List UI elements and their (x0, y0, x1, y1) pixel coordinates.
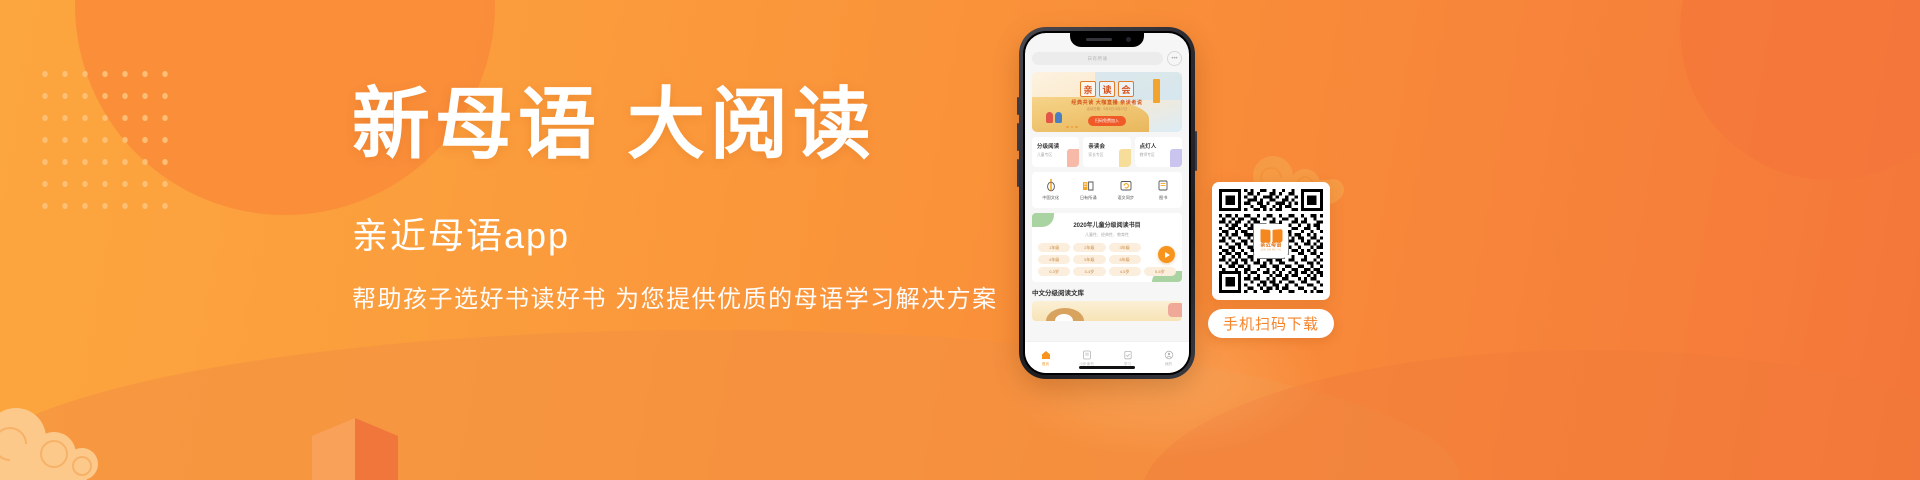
tab-label: 我的 (1165, 362, 1172, 367)
hero-title: 亲 读 会 (1080, 81, 1134, 97)
app-name: 亲近母语app (352, 216, 1012, 256)
grade-chip[interactable]: 1年级 (1038, 243, 1070, 252)
category-card-teacher[interactable]: 点灯人 教师专区 (1135, 137, 1182, 167)
hero-subtitle: 经典共读 大咖直播 亲读者说 (1071, 99, 1142, 106)
tab-reading[interactable]: 小步读书 (1066, 350, 1107, 367)
age-chip[interactable]: 4-5岁 (1109, 267, 1141, 276)
download-button[interactable]: 手机扫码下载 (1208, 309, 1334, 338)
book-icon (1157, 179, 1169, 192)
hero-char-2: 读 (1099, 81, 1115, 97)
grade-chip[interactable]: 3年级 (1109, 243, 1141, 252)
phone-mockup: 日有所诵 ••• 亲 读 会 (1019, 27, 1195, 379)
hero-illustration-kids (1046, 112, 1062, 123)
carousel-dots[interactable] (1066, 126, 1078, 129)
hero-banner-card[interactable]: 亲 读 会 经典共读 大咖直播 亲读者说 活动日期：9月6日-9月27日 扫码免… (1032, 72, 1182, 132)
quick-link-books[interactable]: 图书 (1145, 179, 1183, 201)
grade-chip[interactable]: 4年级 (1038, 255, 1070, 264)
age-chip[interactable]: 0-3岁 (1038, 267, 1070, 276)
phone-volume-down-button (1017, 159, 1019, 187)
card-decor-icon (1119, 149, 1131, 167)
home-indicator (1079, 366, 1135, 369)
phone-mute-switch (1017, 97, 1019, 115)
qr-code-block: 亲近母语 QIN JIN MU YU (1212, 182, 1330, 300)
card-decor-icon (1170, 149, 1182, 167)
qr-logo-pinyin: QIN JIN MU YU (1261, 250, 1282, 253)
category-card-parent-club[interactable]: 亲读会 家长专区 (1083, 137, 1130, 167)
search-input[interactable]: 日有所诵 (1032, 52, 1163, 65)
clipboard-icon (1123, 350, 1133, 360)
app-content: 日有所诵 ••• 亲 读 会 (1025, 33, 1189, 373)
quick-link-label: 语文同步 (1117, 195, 1134, 201)
ellipsis-icon[interactable]: ••• (1167, 51, 1182, 66)
phone-power-button (1195, 131, 1197, 171)
decorative-hill-left (0, 330, 1460, 480)
qr-code[interactable]: 亲近母语 QIN JIN MU YU (1212, 182, 1330, 300)
lantern-icon (1045, 179, 1057, 192)
age-chip[interactable]: 3-4岁 (1073, 267, 1105, 276)
quick-link-chinese-culture[interactable]: 中国文化 (1032, 179, 1070, 201)
decorative-cube (312, 418, 398, 480)
booklist-title: 2020年儿童分级阅读书目 (1038, 220, 1176, 229)
open-book-icon (1082, 179, 1094, 192)
hero-char-3: 会 (1118, 81, 1134, 97)
category-card-graded-reading[interactable]: 分级阅读 儿童专区 (1032, 137, 1079, 167)
booklist-subtitle: 儿童性、经典性、教育性 (1038, 232, 1176, 238)
phone-notch (1070, 33, 1144, 47)
quick-link-row: 中国文化 日有所诵 (1032, 172, 1182, 208)
age-chip[interactable]: 5-6岁 (1144, 267, 1176, 276)
hero-flag-decor (1153, 79, 1160, 103)
quick-link-label: 中国文化 (1042, 195, 1059, 201)
grade-chip[interactable]: 5年级 (1073, 255, 1105, 264)
app-search-bar: 日有所诵 ••• (1032, 51, 1182, 66)
card-decor-icon (1067, 149, 1079, 167)
sync-icon (1120, 179, 1132, 192)
decorative-hill-right (1140, 350, 1920, 480)
tab-profile[interactable]: 我的 (1148, 350, 1189, 367)
promo-banner: 新母语大阅读 亲近母语app 帮助孩子选好书读好书 为您提供优质的母语学习解决方… (0, 0, 1920, 480)
app-tabbar: 首页 小步读书 学习 (1025, 341, 1189, 373)
home-icon (1041, 350, 1051, 360)
booklist-card: 2020年儿童分级阅读书目 儿童性、经典性、教育性 1年级 2年级 3年级 4年… (1032, 213, 1182, 282)
quick-link-textbook-sync[interactable]: 语文同步 (1107, 179, 1145, 201)
banner-tagline: 帮助孩子选好书读好书 为您提供优质的母语学习解决方案 (352, 286, 1012, 315)
decorative-dot-grid (32, 60, 172, 216)
decorative-circle-top-right (1680, 0, 1920, 180)
quick-link-label: 日有所诵 (1080, 195, 1097, 201)
phone-screen: 日有所诵 ••• 亲 读 会 (1025, 33, 1189, 373)
play-video-icon[interactable] (1158, 246, 1175, 263)
grade-chip-grid: 1年级 2年级 3年级 4年级 5年级 6年级 0-3岁 3-4岁 4-5岁 5… (1038, 243, 1176, 276)
qr-canvas: 亲近母语 QIN JIN MU YU (1219, 189, 1323, 293)
grade-chip[interactable]: 6年级 (1109, 255, 1141, 264)
tab-home[interactable]: 首页 (1025, 350, 1066, 367)
phone-volume-up-button (1017, 123, 1019, 151)
search-placeholder: 日有所诵 (1088, 56, 1108, 62)
hero-date: 活动日期：9月6日-9月27日 (1086, 106, 1127, 111)
hero-cta-button[interactable]: 扫码免费加入 (1088, 116, 1126, 126)
page-title: 新母语大阅读 (352, 86, 1012, 164)
quick-link-label: 图书 (1159, 195, 1167, 201)
headline-part-2: 大阅读 (627, 81, 876, 168)
qr-center-logo: 亲近母语 QIN JIN MU YU (1256, 226, 1287, 257)
category-card-row: 分级阅读 儿童专区 亲读会 家长专区 点灯人 教师专区 (1032, 137, 1182, 167)
hero-char-1: 亲 (1080, 81, 1096, 97)
grade-chip[interactable]: 2年级 (1073, 243, 1105, 252)
banner-copy: 新母语大阅读 亲近母语app 帮助孩子选好书读好书 为您提供优质的母语学习解决方… (352, 86, 1012, 314)
tab-study[interactable]: 学习 (1107, 350, 1148, 367)
book-logo-icon (1260, 230, 1282, 243)
quick-link-daily-recite[interactable]: 日有所诵 (1070, 179, 1108, 201)
library-card[interactable] (1032, 301, 1182, 321)
tab-label: 首页 (1042, 362, 1049, 367)
user-icon (1164, 350, 1174, 360)
headline-part-1: 新母语 (352, 81, 601, 168)
download-button-label: 手机扫码下载 (1223, 313, 1319, 334)
decorative-cloud-bottom-left (0, 392, 132, 480)
library-section-title: 中文分级阅读文库 (1032, 287, 1182, 297)
list-icon (1082, 350, 1092, 360)
